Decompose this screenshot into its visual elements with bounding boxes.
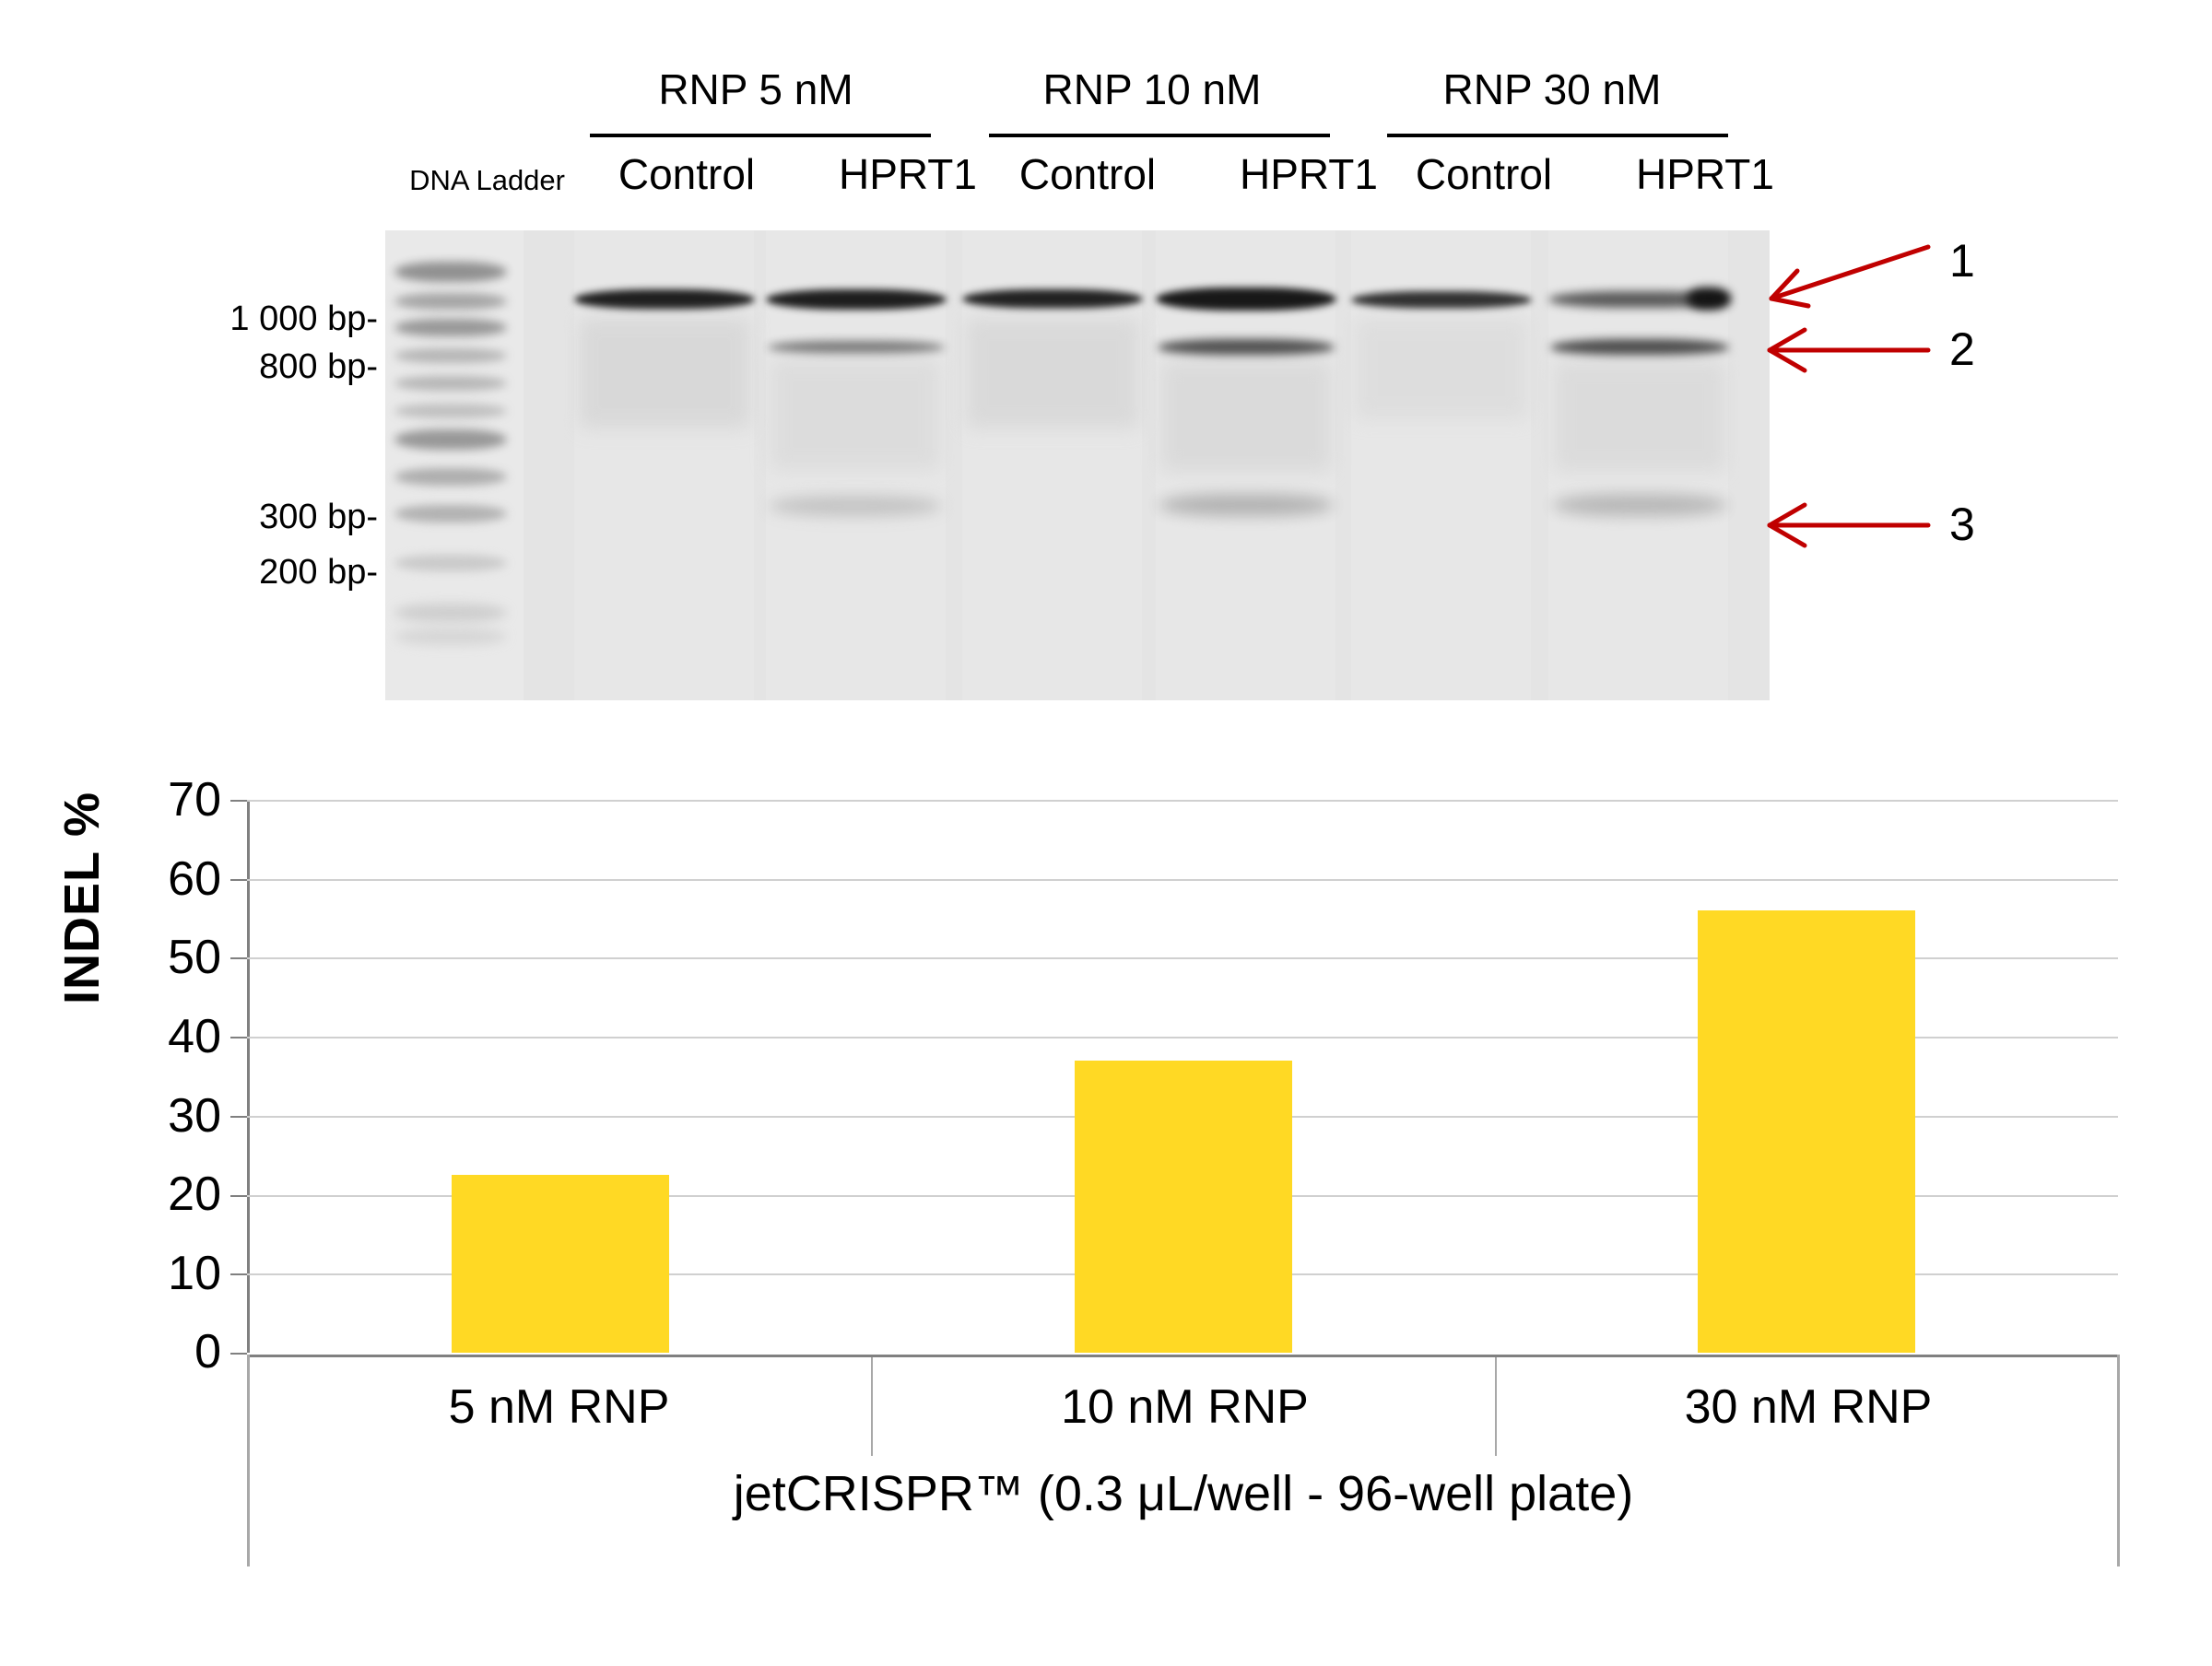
group-header-label: RNP 5 nM [658,65,853,113]
lane-label-hprt1-3: HPRT1 [1594,149,1816,199]
band-lane5-smear [1355,318,1528,419]
caption-frame-right-border [2117,1355,2120,1566]
marker-label-300bp: 300 bp- [194,498,378,537]
bar-5nm-rnp [452,1175,669,1353]
y-tick-label: 20 [120,1170,221,1218]
y-tick-label: 60 [120,855,221,903]
ladder-band [394,628,507,645]
arrow-label-1: 1 [1949,234,1975,287]
ladder-band [394,404,507,418]
ladder-band [394,262,507,282]
y-tick-label: 40 [120,1013,221,1061]
band-lane4-top [1156,287,1336,311]
tick-50 [230,957,247,959]
marker-label-800bp: 800 bp- [194,347,378,387]
band-lane2-smear [771,359,940,470]
band-lane3-smear [966,318,1139,428]
caption-frame-left-border [247,1355,250,1566]
dna-ladder-label: DNA Ladder [381,164,565,197]
bar-30nm-rnp [1698,910,1915,1353]
group-rule-rnp-30nm [1387,134,1728,137]
band-lane2-mid [768,341,945,354]
y-tick-label: 70 [120,776,221,824]
tick-30 [230,1116,247,1118]
band-lane6-smear [1554,361,1725,472]
ladder-band [394,376,507,391]
indel-bar-chart: INDEL % 70 60 50 40 30 20 10 0 5 nM RNP … [0,737,2212,1666]
ladder-band [394,505,507,522]
band-lane3-top [962,289,1143,309]
band-lane2-low [769,496,942,516]
x-tick-label-5nm: 5 nM RNP [247,1357,871,1456]
gel-electrophoresis-panel: RNP 5 nM RNP 10 nM RNP 30 nM DNA Ladder … [0,0,2212,737]
tick-60 [230,879,247,881]
lane-label-control-1: Control [576,149,797,199]
band-lane4-mid [1158,339,1335,356]
gridline-60 [247,879,2118,881]
tick-70 [230,800,247,802]
band-lane4-low [1159,494,1334,516]
marker-label-1000bp: 1 000 bp- [194,299,378,339]
lane-label-control-3: Control [1373,149,1594,199]
tick-10 [230,1273,247,1275]
group-rule-rnp-5nm [590,134,931,137]
arrow-1-svg [1760,241,1935,315]
ladder-band [394,555,507,571]
group-header-label: RNP 10 nM [1043,65,1262,113]
ladder-band [394,319,507,336]
group-header-rnp-30nm: RNP 30 nM [1405,65,1700,114]
y-tick-label: 30 [120,1092,221,1140]
x-tick-label-10nm: 10 nM RNP [873,1357,1497,1456]
lane-label-control-2: Control [977,149,1198,199]
group-header-rnp-5nm: RNP 5 nM [608,65,903,114]
marker-label-200bp: 200 bp- [194,553,378,592]
gridline-70 [247,800,2118,802]
ladder-band [394,604,507,622]
y-tick-label: 0 [120,1328,221,1376]
ladder-band [394,348,507,363]
ladder-band [394,293,507,310]
group-rule-rnp-10nm [989,134,1330,137]
ladder-band [394,468,507,486]
band-lane5-top [1351,291,1532,309]
y-tick-label: 10 [120,1249,221,1297]
x-tick-label-30nm: 30 nM RNP [1497,1357,2120,1456]
band-lane1-top [574,289,755,310]
group-header-rnp-10nm: RNP 10 nM [1005,65,1300,114]
arrow-3-svg [1760,498,1935,553]
ladder-band [394,429,507,450]
arrow-2-svg [1760,323,1935,378]
band-lane6-mid [1550,339,1729,356]
x-axis-category-band: 5 nM RNP 10 nM RNP 30 nM RNP [247,1355,2120,1456]
gel-image [385,230,1770,700]
tick-40 [230,1037,247,1038]
tick-20 [230,1195,247,1197]
band-lane2-top [766,289,947,310]
x-axis-title: jetCRISPR™ (0.3 μL/well - 96-well plate) [247,1465,2120,1522]
tick-0 [230,1353,247,1355]
arrow-label-3: 3 [1949,498,1975,551]
group-header-label: RNP 30 nM [1443,65,1662,113]
bar-10nm-rnp [1075,1061,1292,1353]
plot-area [247,800,2118,1353]
arrow-label-2: 2 [1949,323,1975,376]
band-lane4-smear [1161,361,1331,472]
y-axis-title: INDEL % [53,792,111,1004]
y-tick-label: 50 [120,933,221,981]
band-lane1-smear [579,318,750,428]
band-lane6-top-right [1687,287,1731,310]
band-lane6-low [1552,494,1727,516]
